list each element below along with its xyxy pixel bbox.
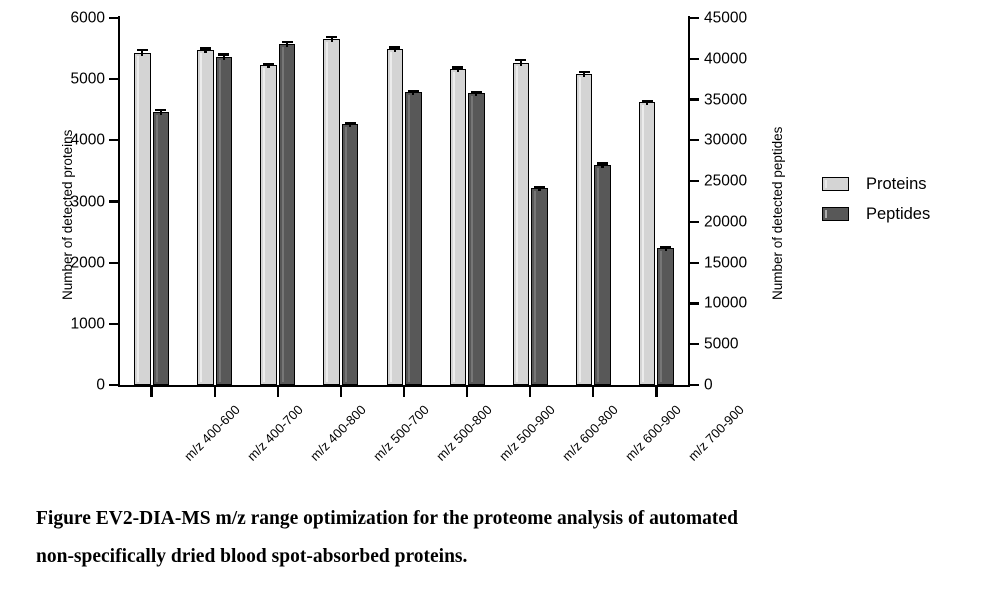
y-tick-right-0: [690, 384, 699, 386]
bar-proteins-0: [134, 53, 151, 385]
x-axis-label-8: m/z 700-900: [686, 402, 748, 464]
x-tick-5: [466, 387, 468, 397]
x-tick-8: [655, 387, 657, 397]
y-tick-label-right-20000: 20000: [704, 214, 747, 230]
legend-swatch-proteins: [822, 177, 849, 191]
x-axis-label-5: m/z 500-900: [496, 402, 558, 464]
x-axis-label-6: m/z 600-800: [559, 402, 621, 464]
y-tick-label-left-6000: 6000: [0, 10, 105, 26]
legend: Proteins Peptides: [822, 176, 930, 235]
legend-item-proteins: Proteins: [822, 176, 930, 193]
x-tick-7: [592, 387, 594, 397]
bar-proteins-5: [450, 69, 467, 385]
y-tick-label-right-40000: 40000: [704, 51, 747, 67]
bar-peptides-1-errorbar-cap: [218, 53, 229, 55]
bar-peptides-2-errorbar-cap: [282, 41, 293, 43]
y-tick-right-20000: [690, 221, 699, 223]
y-tick-label-left-1000: 1000: [0, 316, 105, 332]
x-tick-4: [403, 387, 405, 397]
y-axis-right-line: [688, 16, 690, 387]
x-tick-6: [529, 387, 531, 397]
figure-caption: Figure EV2-DIA-MS m/z range optimization…: [36, 500, 946, 576]
legend-swatch-peptides: [822, 207, 849, 221]
y-tick-label-right-25000: 25000: [704, 173, 747, 189]
bar-proteins-3-errorbar-cap: [326, 36, 337, 38]
bar-peptides-8-errorbar-cap: [660, 246, 671, 248]
y-tick-label-left-2000: 2000: [0, 255, 105, 271]
bar-peptides-3-errorbar-cap: [345, 122, 356, 124]
figure-ev2: Number of detected proteins Number of de…: [0, 0, 993, 605]
y-tick-left-6000: [109, 17, 118, 19]
x-axis-label-2: m/z 400-800: [307, 402, 369, 464]
y-tick-left-5000: [109, 78, 118, 80]
bar-proteins-8-errorbar-cap: [642, 100, 653, 102]
bar-peptides-1: [216, 57, 233, 385]
bar-proteins-8: [639, 102, 656, 385]
y-tick-label-right-10000: 10000: [704, 296, 747, 312]
bar-peptides-4-errorbar-cap: [408, 90, 419, 92]
y-tick-right-35000: [690, 98, 699, 100]
bar-peptides-0: [153, 112, 170, 385]
y-tick-right-45000: [690, 17, 699, 19]
y-tick-left-0: [109, 384, 118, 386]
y-tick-label-right-35000: 35000: [704, 92, 747, 108]
y-tick-left-2000: [109, 262, 118, 264]
y-tick-right-40000: [690, 58, 699, 60]
bar-proteins-1: [197, 50, 214, 385]
y-tick-right-10000: [690, 302, 699, 304]
bar-proteins-3: [323, 39, 340, 385]
y-tick-label-right-45000: 45000: [704, 10, 747, 26]
x-axis-label-3: m/z 500-700: [370, 402, 432, 464]
y-tick-label-left-4000: 4000: [0, 133, 105, 149]
caption-line-1: Figure EV2-DIA-MS m/z range optimization…: [36, 500, 946, 538]
legend-label-peptides: Peptides: [866, 206, 930, 223]
y-tick-right-25000: [690, 180, 699, 182]
y-axis-left-title: Number of detected proteins: [60, 130, 75, 300]
y-tick-left-1000: [109, 323, 118, 325]
x-axis-label-4: m/z 500-800: [433, 402, 495, 464]
x-axis-label-0: m/z 400-600: [181, 402, 243, 464]
bar-proteins-4: [387, 49, 404, 385]
bar-peptides-7: [594, 165, 611, 385]
x-tick-2: [277, 387, 279, 397]
y-tick-label-left-0: 0: [0, 377, 105, 393]
x-axis-label-7: m/z 600-900: [622, 402, 684, 464]
bar-peptides-5: [468, 93, 485, 385]
bar-peptides-8: [657, 248, 674, 385]
legend-label-proteins: Proteins: [866, 176, 927, 193]
bar-proteins-4-errorbar-cap: [389, 46, 400, 48]
x-axis-label-1: m/z 400-700: [244, 402, 306, 464]
y-tick-right-5000: [690, 343, 699, 345]
bar-peptides-3: [342, 124, 359, 385]
y-tick-label-left-5000: 5000: [0, 71, 105, 87]
x-tick-0: [150, 387, 152, 397]
y-tick-label-right-30000: 30000: [704, 133, 747, 149]
y-tick-left-4000: [109, 139, 118, 141]
y-tick-label-right-15000: 15000: [704, 255, 747, 271]
bar-peptides-7-errorbar-cap: [597, 162, 608, 164]
bar-peptides-6: [531, 188, 548, 385]
y-tick-right-30000: [690, 139, 699, 141]
bar-proteins-5-errorbar-cap: [452, 66, 463, 68]
y-tick-left-3000: [109, 200, 118, 202]
bar-proteins-6-errorbar-cap: [515, 59, 526, 61]
bar-proteins-2-errorbar-cap: [263, 63, 274, 65]
bar-proteins-7: [576, 74, 593, 385]
y-tick-label-right-0: 0: [704, 377, 713, 393]
bar-proteins-2: [260, 65, 277, 385]
bar-peptides-2: [279, 44, 296, 385]
bar-peptides-0-errorbar-cap: [155, 109, 166, 111]
caption-line-2: non-specifically dried blood spot-absorb…: [36, 538, 946, 576]
x-tick-1: [214, 387, 216, 397]
plot-area: [120, 18, 688, 385]
y-tick-right-15000: [690, 262, 699, 264]
x-tick-3: [340, 387, 342, 397]
y-tick-label-left-3000: 3000: [0, 194, 105, 210]
bar-peptides-5-errorbar-cap: [471, 91, 482, 93]
bar-proteins-1-errorbar-cap: [200, 47, 211, 49]
bar-proteins-6: [513, 63, 530, 385]
bar-peptides-6-errorbar-cap: [534, 186, 545, 188]
legend-item-peptides: Peptides: [822, 206, 930, 223]
y-axis-right-title: Number of detected peptides: [770, 127, 785, 300]
y-tick-label-right-5000: 5000: [704, 336, 738, 352]
bar-proteins-0-errorbar-cap: [137, 49, 148, 51]
bar-proteins-7-errorbar-cap: [579, 71, 590, 73]
bar-peptides-4: [405, 92, 422, 385]
